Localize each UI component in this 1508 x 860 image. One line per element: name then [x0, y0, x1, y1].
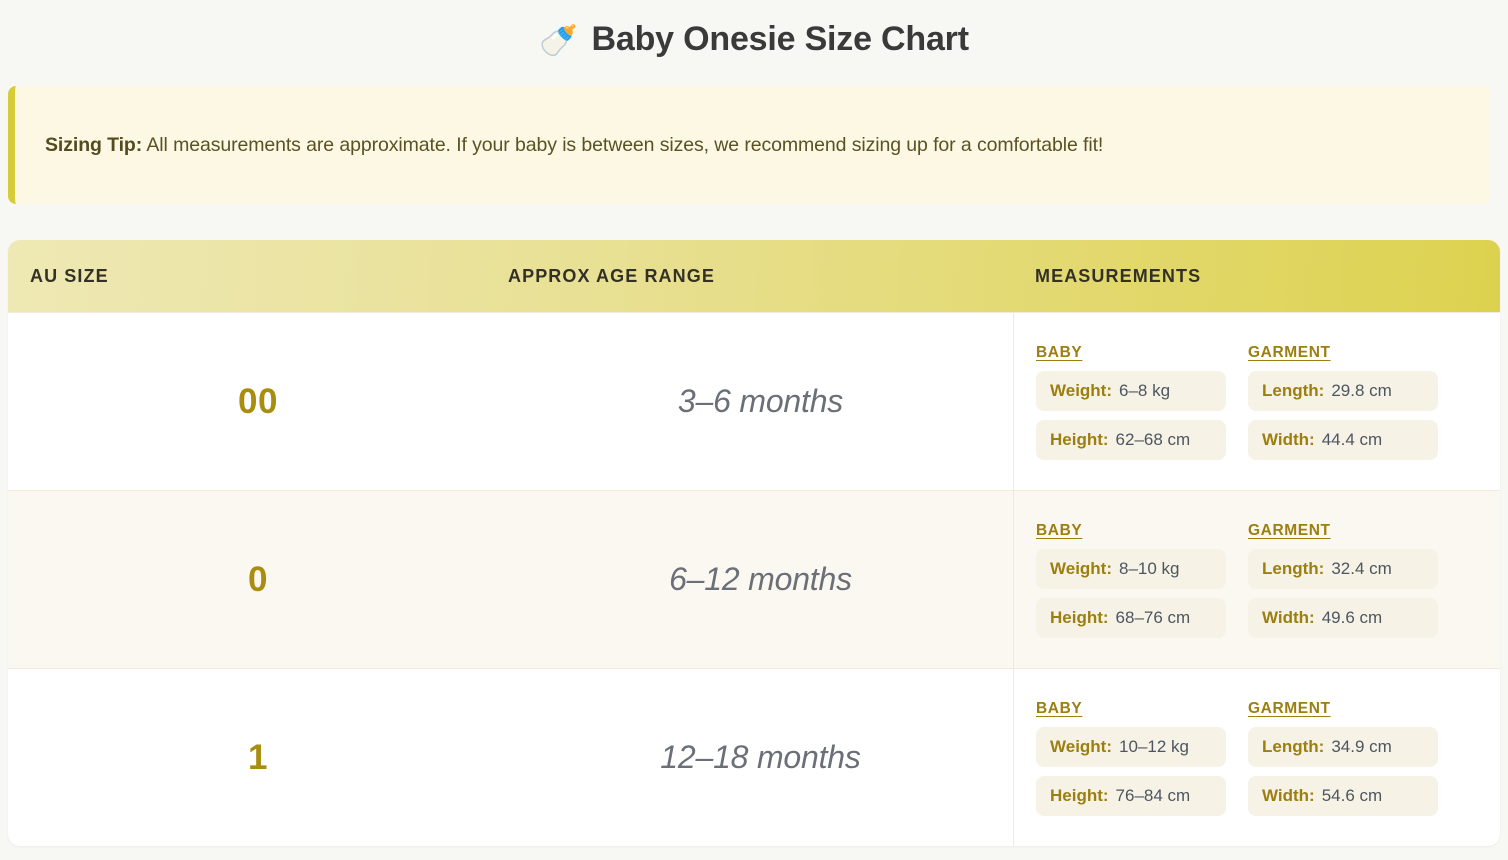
cell-au-size: 00 — [8, 313, 508, 490]
age-range-value: 12–18 months — [660, 739, 860, 776]
baby-bottle-icon: 🍼 — [539, 25, 577, 56]
age-range-value: 6–12 months — [669, 561, 852, 598]
table-row: 1 12–18 months BABY Weight: 10–12 kg Hei… — [8, 668, 1500, 846]
sizing-tip-banner: Sizing Tip: All measurements are approxi… — [8, 86, 1490, 204]
size-value: 1 — [248, 738, 268, 778]
measurement-group-title-baby: BABY — [1036, 700, 1226, 718]
column-header-measurements: MEASUREMENTS — [1013, 266, 1500, 287]
chip-key: Length: — [1262, 559, 1324, 579]
chip-key: Height: — [1050, 786, 1109, 806]
measurement-chip-length: Length: 29.8 cm — [1248, 371, 1438, 411]
cell-au-size: 1 — [8, 669, 508, 846]
table-header-row: AU SIZE APPROX AGE RANGE MEASUREMENTS — [8, 240, 1500, 312]
measurement-group-baby: BABY Weight: 6–8 kg Height: 62–68 cm — [1036, 344, 1226, 460]
chip-key: Height: — [1050, 430, 1109, 450]
chip-value: 32.4 cm — [1331, 559, 1391, 579]
measurement-chip-height: Height: 68–76 cm — [1036, 598, 1226, 638]
cell-age-range: 6–12 months — [508, 491, 1013, 668]
chip-value: 62–68 cm — [1116, 430, 1191, 450]
age-range-value: 3–6 months — [678, 383, 843, 420]
measurement-chip-weight: Weight: 8–10 kg — [1036, 549, 1226, 589]
measurement-chip-height: Height: 62–68 cm — [1036, 420, 1226, 460]
chip-value: 44.4 cm — [1322, 430, 1382, 450]
chip-value: 68–76 cm — [1116, 608, 1191, 628]
column-header-age-range: APPROX AGE RANGE — [508, 266, 1013, 287]
sizing-tip-body: All measurements are approximate. If you… — [146, 134, 1103, 156]
measurement-chip-width: Width: 44.4 cm — [1248, 420, 1438, 460]
measurement-chip-width: Width: 49.6 cm — [1248, 598, 1438, 638]
measurement-group-baby: BABY Weight: 10–12 kg Height: 76–84 cm — [1036, 700, 1226, 816]
measurement-chip-height: Height: 76–84 cm — [1036, 776, 1226, 816]
chip-key: Width: — [1262, 608, 1315, 628]
measurement-chip-length: Length: 34.9 cm — [1248, 727, 1438, 767]
sizing-tip-label: Sizing Tip: — [45, 134, 142, 156]
cell-measurements: BABY Weight: 6–8 kg Height: 62–68 cm GAR… — [1013, 313, 1500, 490]
measurement-group-title-baby: BABY — [1036, 522, 1226, 540]
column-header-au-size: AU SIZE — [8, 266, 508, 287]
size-chart-table: AU SIZE APPROX AGE RANGE MEASUREMENTS 00… — [8, 240, 1500, 846]
chip-key: Length: — [1262, 737, 1324, 757]
size-value: 00 — [238, 382, 278, 422]
measurement-group-title-garment: GARMENT — [1248, 700, 1438, 718]
chip-value: 49.6 cm — [1322, 608, 1382, 628]
cell-measurements: BABY Weight: 8–10 kg Height: 68–76 cm GA… — [1013, 491, 1500, 668]
chip-key: Width: — [1262, 786, 1315, 806]
measurement-group-garment: GARMENT Length: 34.9 cm Width: 54.6 cm — [1248, 700, 1438, 816]
cell-age-range: 12–18 months — [508, 669, 1013, 846]
measurement-group-title-garment: GARMENT — [1248, 522, 1438, 540]
chip-value: 8–10 kg — [1119, 559, 1180, 579]
chip-value: 54.6 cm — [1322, 786, 1382, 806]
measurement-chip-weight: Weight: 6–8 kg — [1036, 371, 1226, 411]
measurement-chip-weight: Weight: 10–12 kg — [1036, 727, 1226, 767]
chip-key: Width: — [1262, 430, 1315, 450]
chip-key: Height: — [1050, 608, 1109, 628]
measurement-group-garment: GARMENT Length: 29.8 cm Width: 44.4 cm — [1248, 344, 1438, 460]
chip-value: 10–12 kg — [1119, 737, 1189, 757]
chip-value: 76–84 cm — [1116, 786, 1191, 806]
table-row: 00 3–6 months BABY Weight: 6–8 kg Height… — [8, 312, 1500, 490]
sizing-tip-text: Sizing Tip: All measurements are approxi… — [45, 134, 1103, 157]
chip-key: Weight: — [1050, 737, 1112, 757]
measurement-group-garment: GARMENT Length: 32.4 cm Width: 49.6 cm — [1248, 522, 1438, 638]
measurement-chip-length: Length: 32.4 cm — [1248, 549, 1438, 589]
page-title-text: Baby Onesie Size Chart — [592, 20, 969, 59]
measurement-group-title-baby: BABY — [1036, 344, 1226, 362]
chip-key: Weight: — [1050, 559, 1112, 579]
chip-key: Weight: — [1050, 381, 1112, 401]
chip-value: 34.9 cm — [1331, 737, 1391, 757]
cell-age-range: 3–6 months — [508, 313, 1013, 490]
chip-value: 29.8 cm — [1331, 381, 1391, 401]
chip-value: 6–8 kg — [1119, 381, 1170, 401]
chip-key: Length: — [1262, 381, 1324, 401]
cell-measurements: BABY Weight: 10–12 kg Height: 76–84 cm G… — [1013, 669, 1500, 846]
cell-au-size: 0 — [8, 491, 508, 668]
table-row: 0 6–12 months BABY Weight: 8–10 kg Heigh… — [8, 490, 1500, 668]
measurement-group-baby: BABY Weight: 8–10 kg Height: 68–76 cm — [1036, 522, 1226, 638]
page-title: 🍼 Baby Onesie Size Chart — [0, 0, 1508, 78]
measurement-chip-width: Width: 54.6 cm — [1248, 776, 1438, 816]
measurement-group-title-garment: GARMENT — [1248, 344, 1438, 362]
size-value: 0 — [248, 560, 268, 600]
